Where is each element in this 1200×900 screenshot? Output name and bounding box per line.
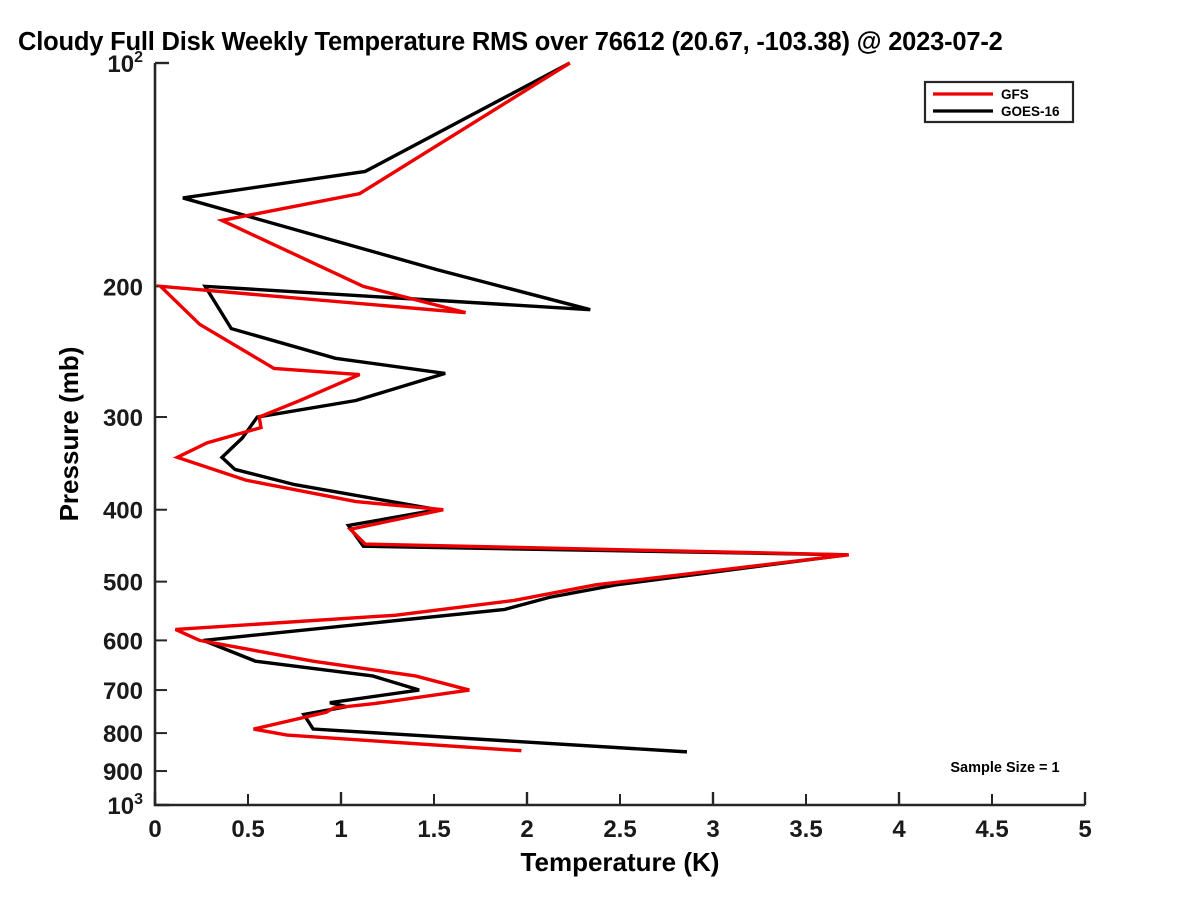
y-axis-tick-label: 102: [107, 49, 143, 78]
y-axis-tick-label: 500: [103, 570, 143, 597]
x-axis-tick-label: 1: [334, 816, 347, 843]
x-axis-tick-label: 4: [892, 816, 906, 843]
x-axis-tick-label: 2: [520, 816, 533, 843]
y-axis-tick-label: 400: [103, 498, 143, 525]
x-axis-tick-label: 1.5: [417, 816, 450, 843]
chart-legend[interactable]: GFSGOES-16: [925, 82, 1073, 122]
y-axis-tick-label: 300: [103, 405, 143, 432]
data-series: [161, 63, 849, 752]
axis-frame: [155, 63, 1085, 805]
axis-labels: 00.511.522.533.544.551022003004005006007…: [54, 49, 1092, 877]
x-axis-title: Temperature (K): [521, 847, 720, 877]
y-axis-tick-label: 103: [107, 791, 143, 820]
y-axis-tick-label: 700: [103, 678, 143, 705]
x-axis-tick-label: 3: [706, 816, 719, 843]
x-axis-tick-label: 2.5: [603, 816, 636, 843]
x-axis-tick-label: 3.5: [789, 816, 822, 843]
sample-size-annotation: Sample Size = 1: [950, 760, 1059, 776]
legend-label-gfs: GFS: [1001, 87, 1029, 102]
series-line-gfs: [161, 63, 849, 751]
x-axis-tick-label: 0: [148, 816, 161, 843]
y-axis-tick-label: 900: [103, 759, 143, 786]
y-axis-title: Pressure (mb): [54, 347, 84, 522]
x-axis-tick-label: 5: [1078, 816, 1091, 843]
y-axis-tick-label: 600: [103, 628, 143, 655]
x-axis-tick-label: 0.5: [231, 816, 264, 843]
sample-size-text: Sample Size = 1: [950, 760, 1059, 776]
chart-figure: Cloudy Full Disk Weekly Temperature RMS …: [0, 0, 1200, 900]
y-axis-tick-label: 800: [103, 721, 143, 748]
plot-area: 00.511.522.533.544.551022003004005006007…: [0, 0, 1200, 900]
x-axis-tick-label: 4.5: [975, 816, 1008, 843]
legend-label-goes-16: GOES-16: [1001, 104, 1060, 119]
axes: [155, 63, 1085, 805]
y-axis-tick-label: 200: [103, 274, 143, 301]
